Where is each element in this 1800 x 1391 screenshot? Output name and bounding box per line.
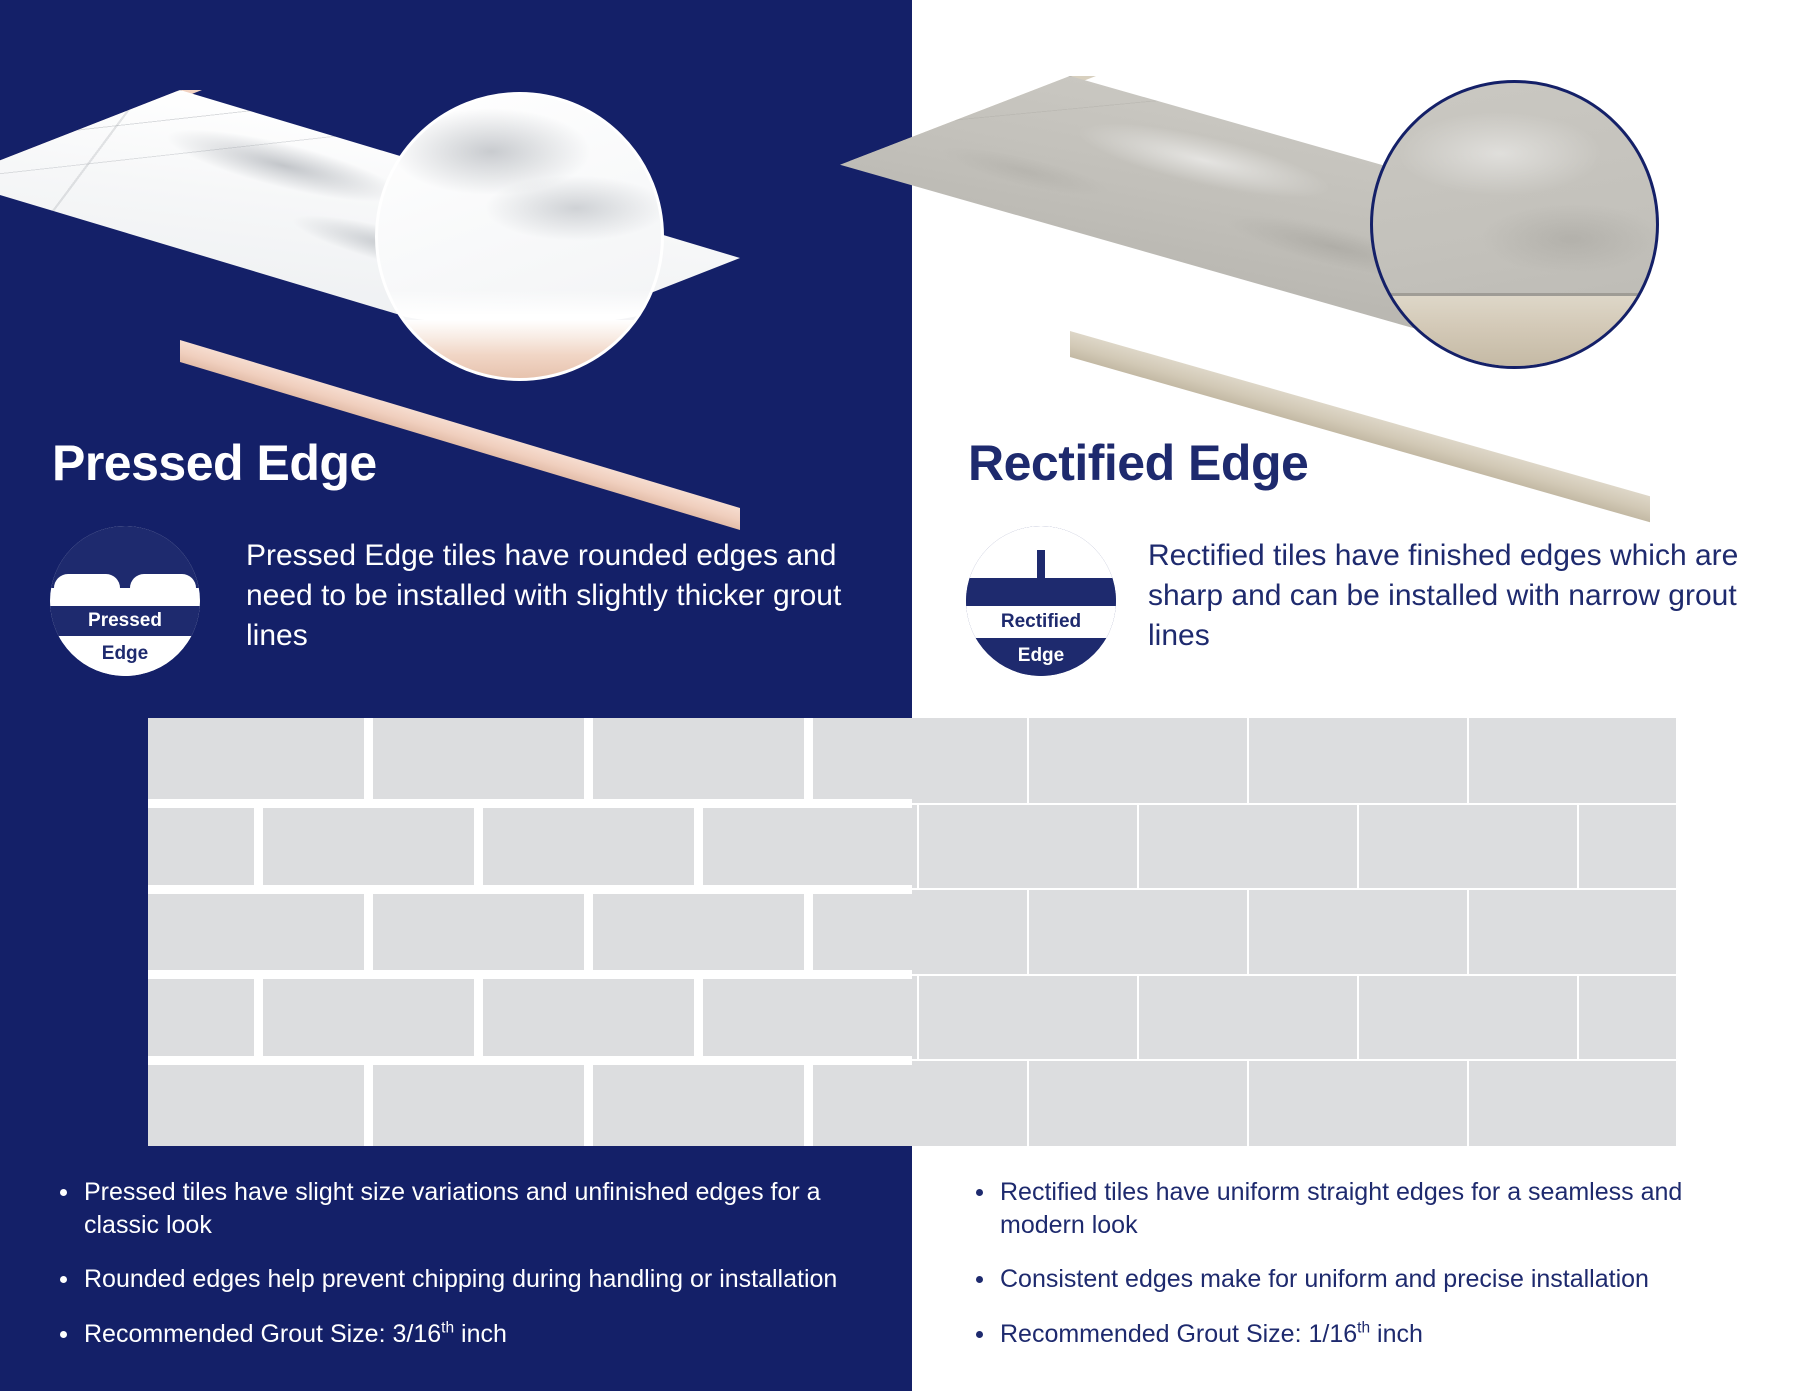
list-item-text: Rectified tiles have uniform straight ed… <box>1000 1178 1682 1239</box>
grout-line-vertical <box>1577 975 1579 1061</box>
grout-line-vertical <box>917 804 919 890</box>
bullet-items: Rectified tiles have uniform straight ed… <box>968 1176 1728 1350</box>
grout-line-vertical <box>1247 718 1249 804</box>
list-item: Rounded edges help prevent chipping duri… <box>52 1263 872 1296</box>
grout-line-vertical <box>804 889 813 975</box>
badge-graphic: Rectified Edge <box>966 526 1116 676</box>
grout-line-vertical <box>1247 889 1249 975</box>
grout-line-vertical <box>1027 1060 1029 1146</box>
tile-body-band <box>378 320 661 378</box>
grout-line-vertical <box>364 889 373 975</box>
badge-top-label: Pressed <box>88 610 162 632</box>
grout-line-vertical <box>1577 804 1579 890</box>
badge-bottom-label: Edge <box>102 643 148 665</box>
list-item-text: Recommended Grout Size: 3/16th inch <box>84 1320 507 1348</box>
badge-top-label-band: Pressed <box>50 606 200 636</box>
grout-line-vertical <box>584 718 593 804</box>
bullet-dot <box>976 1276 983 1283</box>
badge-top-label-band: Rectified <box>966 606 1116 638</box>
grout-line-vertical <box>694 975 703 1061</box>
ordinal-suffix: th <box>1357 1319 1370 1336</box>
badge-rounded-tile-left <box>54 574 120 606</box>
list-item: Recommended Grout Size: 3/16th inch <box>52 1318 872 1351</box>
list-item-text: Consistent edges make for uniform and pr… <box>1000 1265 1649 1293</box>
rectified-edge-heading: Rectified Edge <box>968 438 1308 488</box>
subway-tile-grout-comparison <box>148 718 1676 1146</box>
rectified-edge-description: Rectified tiles have finished edges whic… <box>1148 536 1768 657</box>
ordinal-suffix: th <box>441 1319 454 1336</box>
bullet-dot <box>60 1331 67 1338</box>
grout-line-horizontal <box>148 885 912 894</box>
list-item-text: Rounded edges help prevent chipping duri… <box>84 1265 837 1293</box>
grout-line-vertical <box>584 1060 593 1146</box>
list-item-text: Recommended Grout Size: 1/16th inch <box>1000 1320 1423 1348</box>
grout-line-vertical <box>1137 975 1139 1061</box>
badge-rounded-tile-right <box>130 574 196 606</box>
badge-bottom-label-area: Edge <box>50 636 200 676</box>
rectified-edge-bullet-list: Rectified tiles have uniform straight ed… <box>968 1176 1728 1350</box>
grout-line-vertical <box>1467 718 1469 804</box>
badge-bottom-label-area: Edge <box>966 638 1116 676</box>
list-item: Recommended Grout Size: 1/16th inch <box>968 1318 1728 1351</box>
grout-line-vertical <box>694 804 703 890</box>
badge-straight-gap <box>1037 550 1045 578</box>
grout-line-horizontal <box>912 803 1676 805</box>
grout-line-horizontal <box>148 970 912 979</box>
grout-line-vertical <box>804 718 813 804</box>
bullet-items: Pressed tiles have slight size variation… <box>52 1176 872 1350</box>
grout-line-vertical <box>584 889 593 975</box>
grout-line-vertical <box>804 1060 813 1146</box>
bullet-dot <box>60 1189 67 1196</box>
badge-top-label: Rectified <box>1001 611 1081 633</box>
magnifier-rounded-edge-icon <box>375 92 664 381</box>
pressed-edge-heading: Pressed Edge <box>52 438 377 488</box>
list-item: Rectified tiles have uniform straight ed… <box>968 1176 1728 1241</box>
grout-line-vertical <box>1357 804 1359 890</box>
badge-mid-band <box>966 578 1116 606</box>
grout-line-vertical <box>1247 1060 1249 1146</box>
badge-bottom-label: Edge <box>1018 645 1064 667</box>
pressed-edge-badge: Pressed Edge <box>50 526 200 676</box>
grout-line-vertical <box>364 718 373 804</box>
bullet-dot <box>976 1189 983 1196</box>
rectified-edge-badge: Rectified Edge <box>966 526 1116 676</box>
grout-line-vertical <box>1357 975 1359 1061</box>
list-item-text: Pressed tiles have slight size variation… <box>84 1178 821 1239</box>
grout-line-horizontal <box>912 974 1676 976</box>
grout-line-vertical <box>1027 718 1029 804</box>
grout-line-vertical <box>917 975 919 1061</box>
infographic-stage: Pressed Edge Rectified Edge Pressed Edge… <box>0 0 1800 1391</box>
pressed-edge-description: Pressed Edge tiles have rounded edges an… <box>246 536 856 657</box>
bullet-dot <box>976 1331 983 1338</box>
bullet-dot <box>60 1276 67 1283</box>
grout-line-horizontal <box>148 1056 912 1065</box>
badge-graphic: Pressed Edge <box>50 526 200 676</box>
list-item: Pressed tiles have slight size variation… <box>52 1176 872 1241</box>
grout-line-vertical <box>1467 889 1469 975</box>
grout-line-vertical <box>1027 889 1029 975</box>
grout-line-vertical <box>364 1060 373 1146</box>
grout-line-vertical <box>254 804 263 890</box>
grout-line-vertical <box>474 804 483 890</box>
magnifier-sharp-edge-icon <box>1370 80 1659 369</box>
list-item: Consistent edges make for uniform and pr… <box>968 1263 1728 1296</box>
grout-line-vertical <box>474 975 483 1061</box>
grout-line-vertical <box>254 975 263 1061</box>
tile-body-band <box>1373 296 1656 366</box>
grout-line-vertical <box>1467 1060 1469 1146</box>
grout-line-horizontal <box>148 799 912 808</box>
pressed-edge-bullet-list: Pressed tiles have slight size variation… <box>52 1176 872 1350</box>
grout-line-vertical <box>1137 804 1139 890</box>
